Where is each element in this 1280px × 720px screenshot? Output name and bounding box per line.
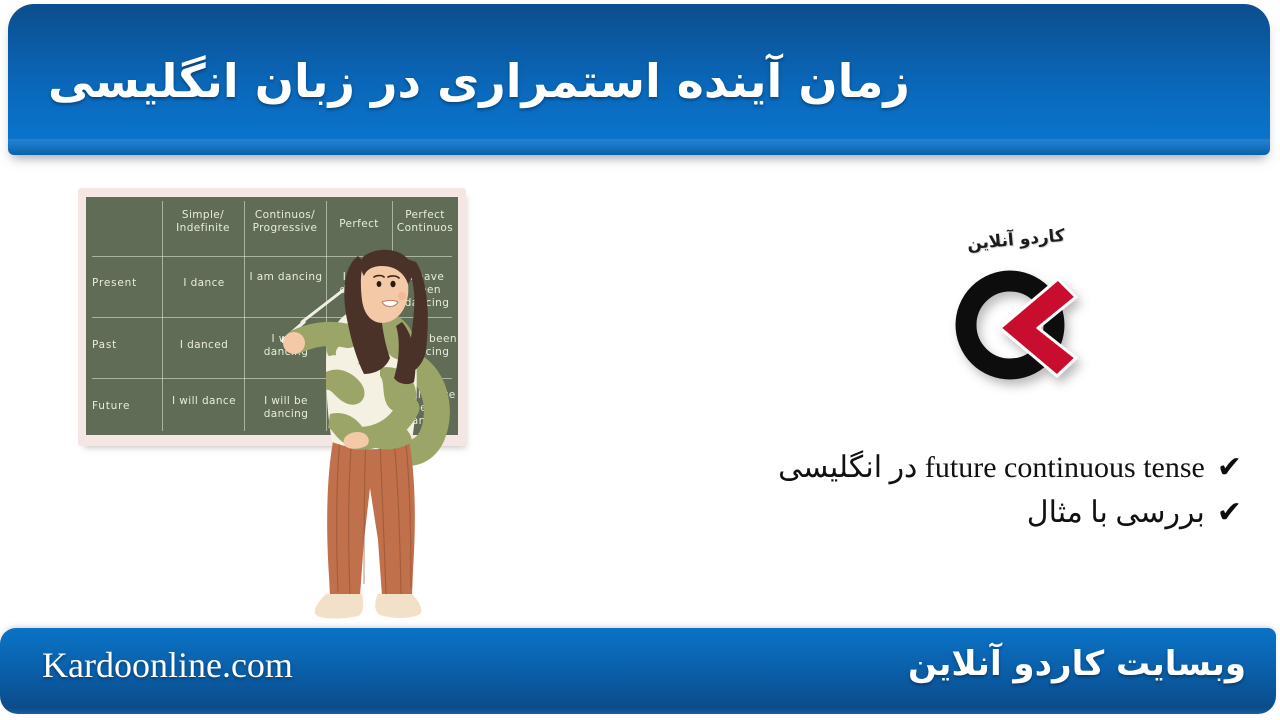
table-col-header: Perfect [328, 218, 390, 231]
table-col-header: Perfect Continuos [394, 209, 456, 235]
table-row-header: Past [92, 339, 162, 352]
list-item-label: future continuous tense در انگلیسی [778, 448, 1205, 487]
page-title: زمان آینده استمراری در زبان انگلیسی [48, 32, 1210, 132]
site-name-label: وبسایت کاردو آنلاین [908, 644, 1246, 684]
pants [327, 436, 415, 596]
table-cell: I danced [166, 339, 242, 352]
site-url-label: Kardoonline.com [42, 644, 293, 686]
table-row-header: Present [92, 277, 162, 290]
list-item: ✔ future continuous tense در انگلیسی [542, 448, 1242, 487]
table-vline [162, 201, 163, 431]
teacher-illustration [282, 240, 472, 625]
header-bar: زمان آینده استمراری در زبان انگلیسی [8, 4, 1270, 155]
check-icon: ✔ [1217, 453, 1242, 483]
bullet-list: ✔ future continuous tense در انگلیسی ✔ ب… [542, 448, 1242, 538]
check-icon: ✔ [1217, 498, 1242, 528]
table-col-header: Continuos/ Progressive [246, 209, 324, 235]
slide-canvas: زمان آینده استمراری در زبان انگلیسی Simp… [0, 0, 1280, 720]
table-cell: I will dance [166, 395, 242, 408]
kardoonline-logo: کاردو آنلاین [930, 228, 1100, 403]
list-item-label: بررسی با مثال [1027, 493, 1205, 532]
table-col-header: Simple/ Indefinite [164, 209, 242, 235]
table-vline [244, 201, 245, 431]
table-cell: I dance [166, 277, 242, 290]
footer-bar: Kardoonline.com وبسایت کاردو آنلاین [0, 628, 1276, 714]
list-item: ✔ بررسی با مثال [542, 493, 1242, 532]
table-row-header: Future [92, 400, 162, 413]
shoes [315, 594, 422, 619]
